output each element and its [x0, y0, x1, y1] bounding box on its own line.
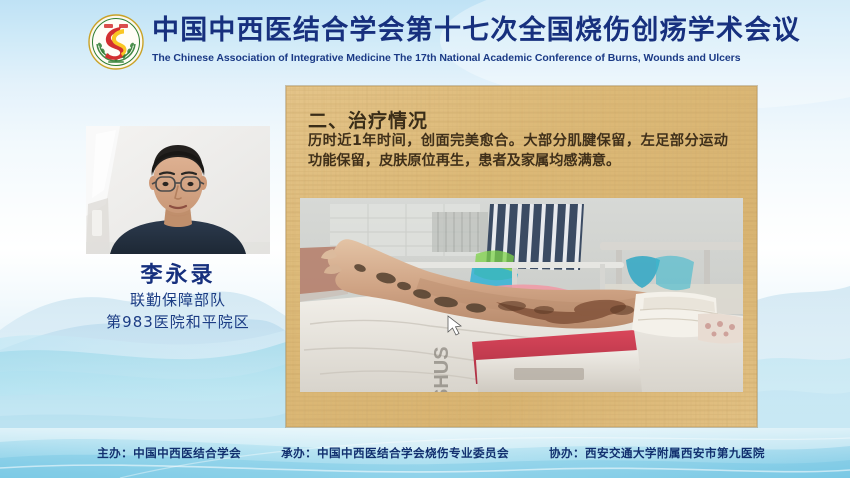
presentation-slide[interactable]: 二、治疗情况 历时近1年时间，创面完美愈合。大部分肌腱保留，左足部分运动功能保留… — [286, 86, 757, 427]
footer-credits: 主办：中国中西医结合学会 承办：中国中西医结合学会烧伤专业委员会 协办：西安交通… — [0, 428, 850, 478]
presenter-webcam-video[interactable] — [86, 126, 270, 254]
slide-body-text: 历时近1年时间，创面完美愈合。大部分肌腱保留，左足部分运动功能保留，皮肤原位再生… — [308, 132, 728, 171]
presenter-name: 李永录 — [64, 262, 292, 289]
conference-emblem-icon — [88, 14, 144, 70]
conference-header: 中国中西医结合学会第十七次全国烧伤创疡学术会议 The Chinese Asso… — [0, 0, 850, 82]
organizer-footer: 主办：中国中西医结合学会 承办：中国中西医结合学会烧伤专业委员会 协办：西安交通… — [0, 428, 850, 478]
slide-content: 二、治疗情况 历时近1年时间，创面完美愈合。大部分肌腱保留，左足部分运动功能保留… — [286, 86, 757, 427]
header-title-block: 中国中西医结合学会第十七次全国烧伤创疡学术会议 The Chinese Asso… — [152, 14, 782, 66]
livestream-stage: 中国中西医结合学会第十七次全国烧伤创疡学术会议 The Chinese Asso… — [0, 0, 850, 478]
clinical-photo: SHUS — [300, 198, 743, 392]
credit-organizer: 主办：中国中西医结合学会 — [97, 445, 241, 461]
conference-title: 中国中西医结合学会第十七次全国烧伤创疡学术会议 — [152, 14, 782, 48]
svg-text:SHUS: SHUS — [431, 346, 453, 392]
conference-subtitle: The Chinese Association of Integrative M… — [152, 50, 782, 66]
credit-host: 承办：中国中西医结合学会烧伤专业委员会 — [281, 445, 509, 461]
slide-heading: 二、治疗情况 — [308, 106, 428, 133]
presenter-info: 李永录 联勤保障部队 第983医院和平院区 — [64, 262, 292, 333]
presenter-org-line-2: 第983医院和平院区 — [64, 311, 292, 333]
presenter-org-line-1: 联勤保障部队 — [64, 289, 292, 311]
credit-co-organizer: 协办：西安交通大学附属西安市第九医院 — [549, 445, 765, 461]
